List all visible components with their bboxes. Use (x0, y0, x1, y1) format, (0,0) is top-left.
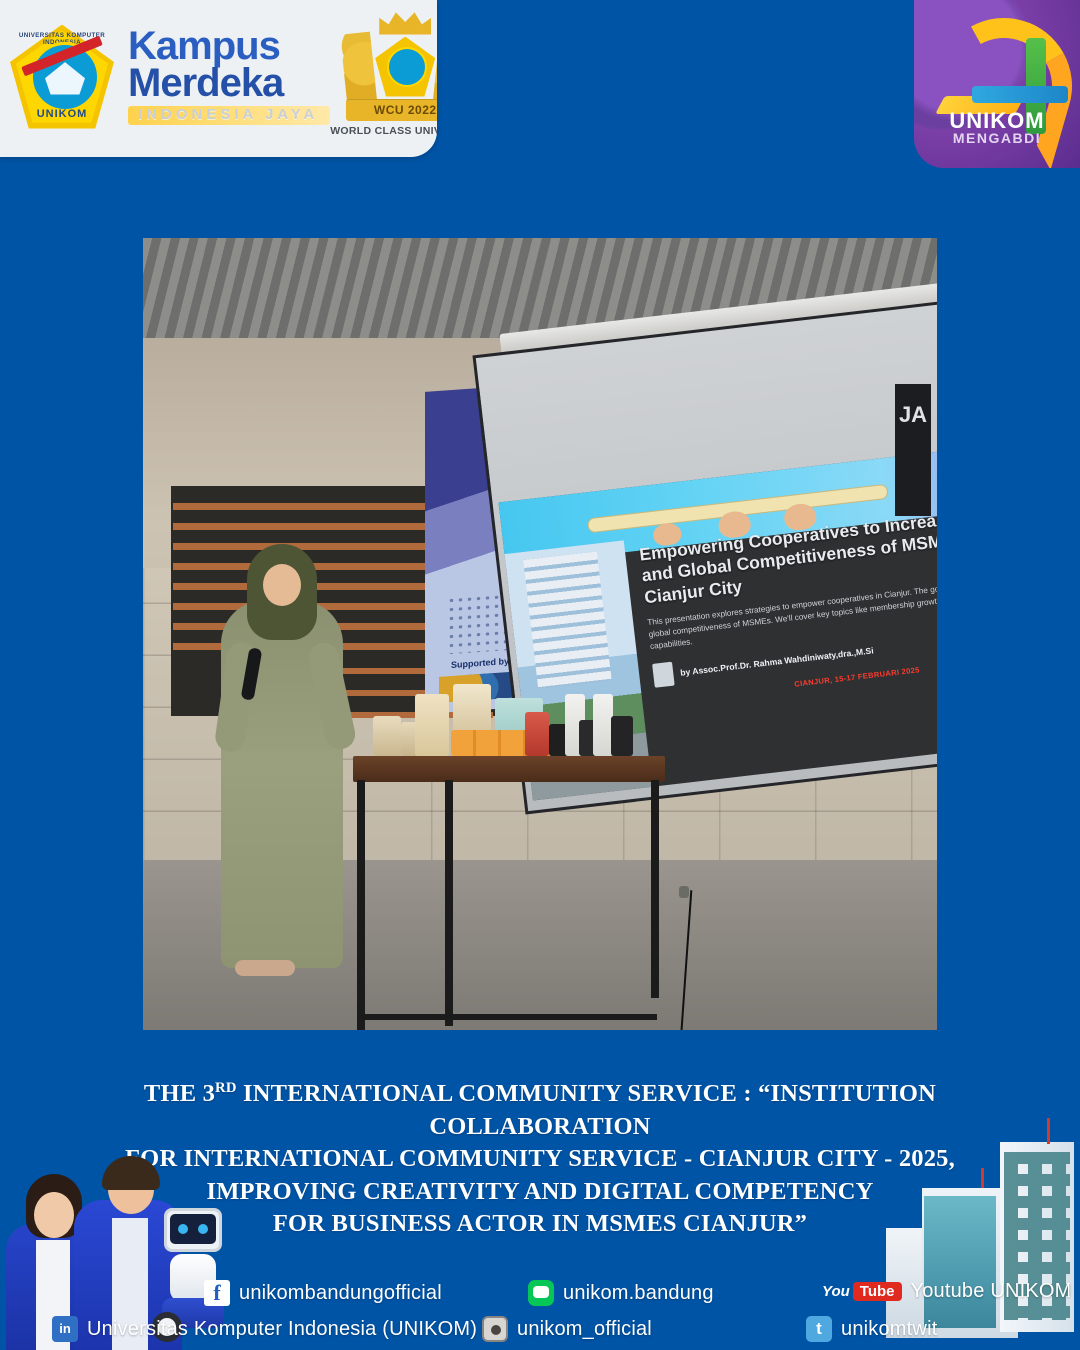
social-linkedin[interactable]: Universitas Komputer Indonesia (UNIKOM) (52, 1316, 477, 1342)
slide-body: Empowering Cooperatives to Increase Reve… (628, 491, 937, 786)
kampus-merdeka-line1: Kampus (128, 28, 330, 65)
linkedin-icon (52, 1316, 78, 1342)
numeral-four-horizontal (972, 86, 1068, 103)
poster-canvas: UNIVERSITAS KOMPUTER INDONESIA UNIKOM Ka… (0, 0, 1080, 1350)
social-line[interactable]: unikom.bandung (528, 1280, 714, 1306)
social-twitter[interactable]: unikomtwit (806, 1316, 937, 1342)
robot-eye-right (198, 1224, 208, 1234)
facebook-label: unikombandungofficial (239, 1282, 442, 1305)
wcu-crest-icon: WCU 2022 WORLD CLASS UNIVERSITY (340, 7, 437, 147)
product-bottle-2 (593, 694, 613, 756)
building-antenna-2 (981, 1168, 984, 1188)
linkedin-label: Universitas Komputer Indonesia (UNIKOM) (87, 1318, 477, 1341)
event-photo: Supported by Empowering Cooperatives to … (143, 238, 937, 1030)
screen-pull-knob (679, 886, 689, 898)
social-youtube[interactable]: You Tube Youtube UNIKOM (822, 1280, 1072, 1303)
kampus-merdeka-tagline: INDONESIA JAYA (128, 106, 330, 125)
table-leg-1 (357, 780, 365, 1030)
unikom-seal-icon: UNIVERSITAS KOMPUTER INDONESIA UNIKOM (10, 25, 114, 129)
instagram-icon (482, 1316, 508, 1342)
wcu-mini-seal-icon (375, 37, 435, 97)
student-male-hair (102, 1156, 160, 1190)
product-berry-jar (525, 712, 549, 756)
robot-eye-left (178, 1224, 188, 1234)
mengabdi-line2: MENGABDI (914, 130, 1080, 146)
youtube-label: Youtube UNIKOM (911, 1280, 1072, 1303)
presenter-figure (205, 538, 357, 968)
line-label: unikom.bandung (563, 1282, 714, 1305)
instagram-label: unikom_official (517, 1318, 652, 1341)
wcu-subtitle: WORLD CLASS UNIVERSITY (330, 125, 437, 137)
line-icon (528, 1280, 554, 1306)
twitter-label: unikomtwit (841, 1318, 937, 1341)
robot-face-screen (170, 1214, 216, 1244)
youtube-icon-tube: Tube (853, 1282, 902, 1301)
wcu-badge-text: WCU 2022 (346, 99, 437, 121)
product-jar-tall (415, 694, 449, 756)
table-leg-3 (651, 780, 659, 998)
facebook-icon (204, 1280, 230, 1306)
header-logo-card: UNIVERSITAS KOMPUTER INDONESIA UNIKOM Ka… (0, 0, 437, 157)
presenter-face (263, 564, 301, 606)
youtube-icon-you: You (822, 1283, 850, 1300)
twitter-icon (806, 1316, 832, 1342)
wall-sign: JA (895, 384, 931, 516)
table-top (353, 756, 665, 782)
unikom-mengabdi-logo: UNIKOM MENGABDI (914, 0, 1080, 168)
building-antenna-1 (1047, 1118, 1050, 1144)
caption-ordinal-suffix: RD (215, 1080, 237, 1096)
kampus-merdeka-line2: Merdeka (128, 65, 330, 102)
caption-line1-b: INTERNATIONAL COMMUNITY SERVICE : “INSTI… (237, 1080, 936, 1140)
kampus-merdeka-wordmark: Kampus Merdeka INDONESIA JAYA (128, 28, 330, 124)
product-jar-small (373, 716, 401, 756)
caption-line1-a: THE 3 (144, 1080, 215, 1107)
student-female-head (34, 1192, 74, 1238)
product-black-package-3 (611, 716, 633, 756)
crown-icon (379, 11, 431, 35)
social-footer: unikombandungofficial Universitas Komput… (0, 1262, 1080, 1350)
slide-city-building (523, 552, 611, 690)
standee-dot-pattern (447, 592, 509, 654)
social-facebook[interactable]: unikombandungofficial (204, 1280, 442, 1306)
product-display-table (353, 756, 665, 1028)
table-rail (357, 1014, 657, 1020)
social-instagram[interactable]: unikom_official (482, 1316, 652, 1342)
presenter-shoes (235, 960, 295, 976)
youtube-icon: You Tube (822, 1282, 902, 1301)
table-leg-2 (445, 780, 453, 1026)
slide-author-avatar (652, 661, 675, 687)
seal-name-text: UNIKOM (10, 108, 114, 120)
